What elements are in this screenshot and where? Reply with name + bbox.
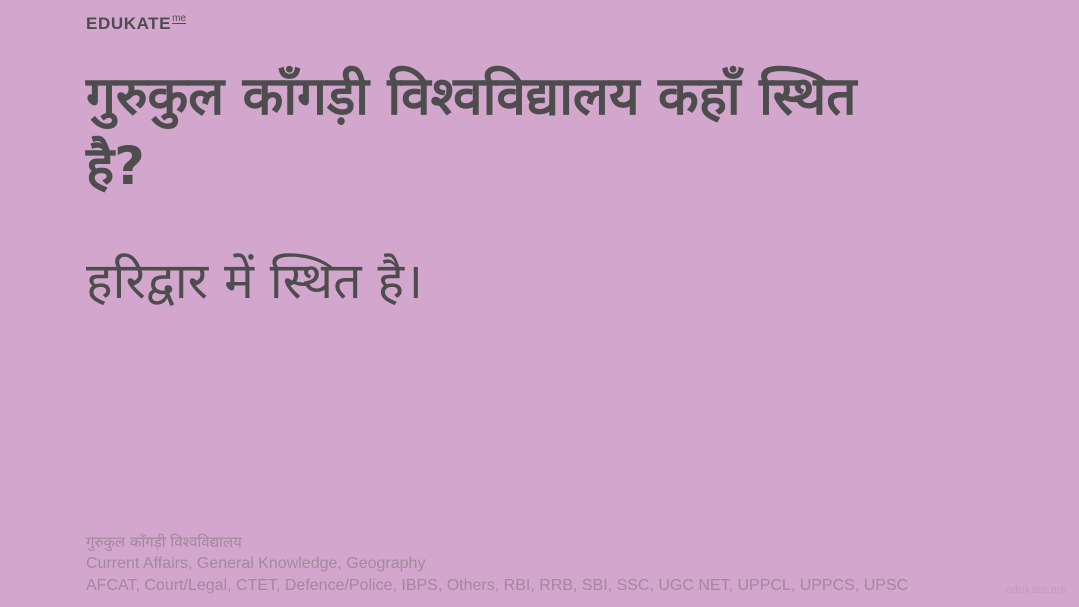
footer: गुरुकुल काँगड़ी विश्वविद्यालय Current Af…: [86, 531, 1046, 597]
question-text: गुरुकुल काँगड़ी विश्वविद्यालय कहाँ स्थित…: [86, 62, 916, 202]
slide-canvas: EDUKATEme गुरुकुल काँगड़ी विश्वविद्यालय …: [0, 0, 1079, 607]
answer-text: हरिद्वार में स्थित है।: [86, 249, 966, 314]
footer-topic: गुरुकुल काँगड़ी विश्वविद्यालय: [86, 531, 1046, 553]
footer-subjects: Current Affairs, General Knowledge, Geog…: [86, 553, 1046, 575]
footer-exams: AFCAT, Court/Legal, CTET, Defence/Police…: [86, 575, 1046, 597]
brand-name: EDUKATE: [86, 15, 171, 32]
brand-logo[interactable]: EDUKATEme: [86, 15, 186, 32]
watermark-label: edukate.me: [1006, 584, 1067, 596]
brand-suffix: me: [172, 14, 186, 24]
